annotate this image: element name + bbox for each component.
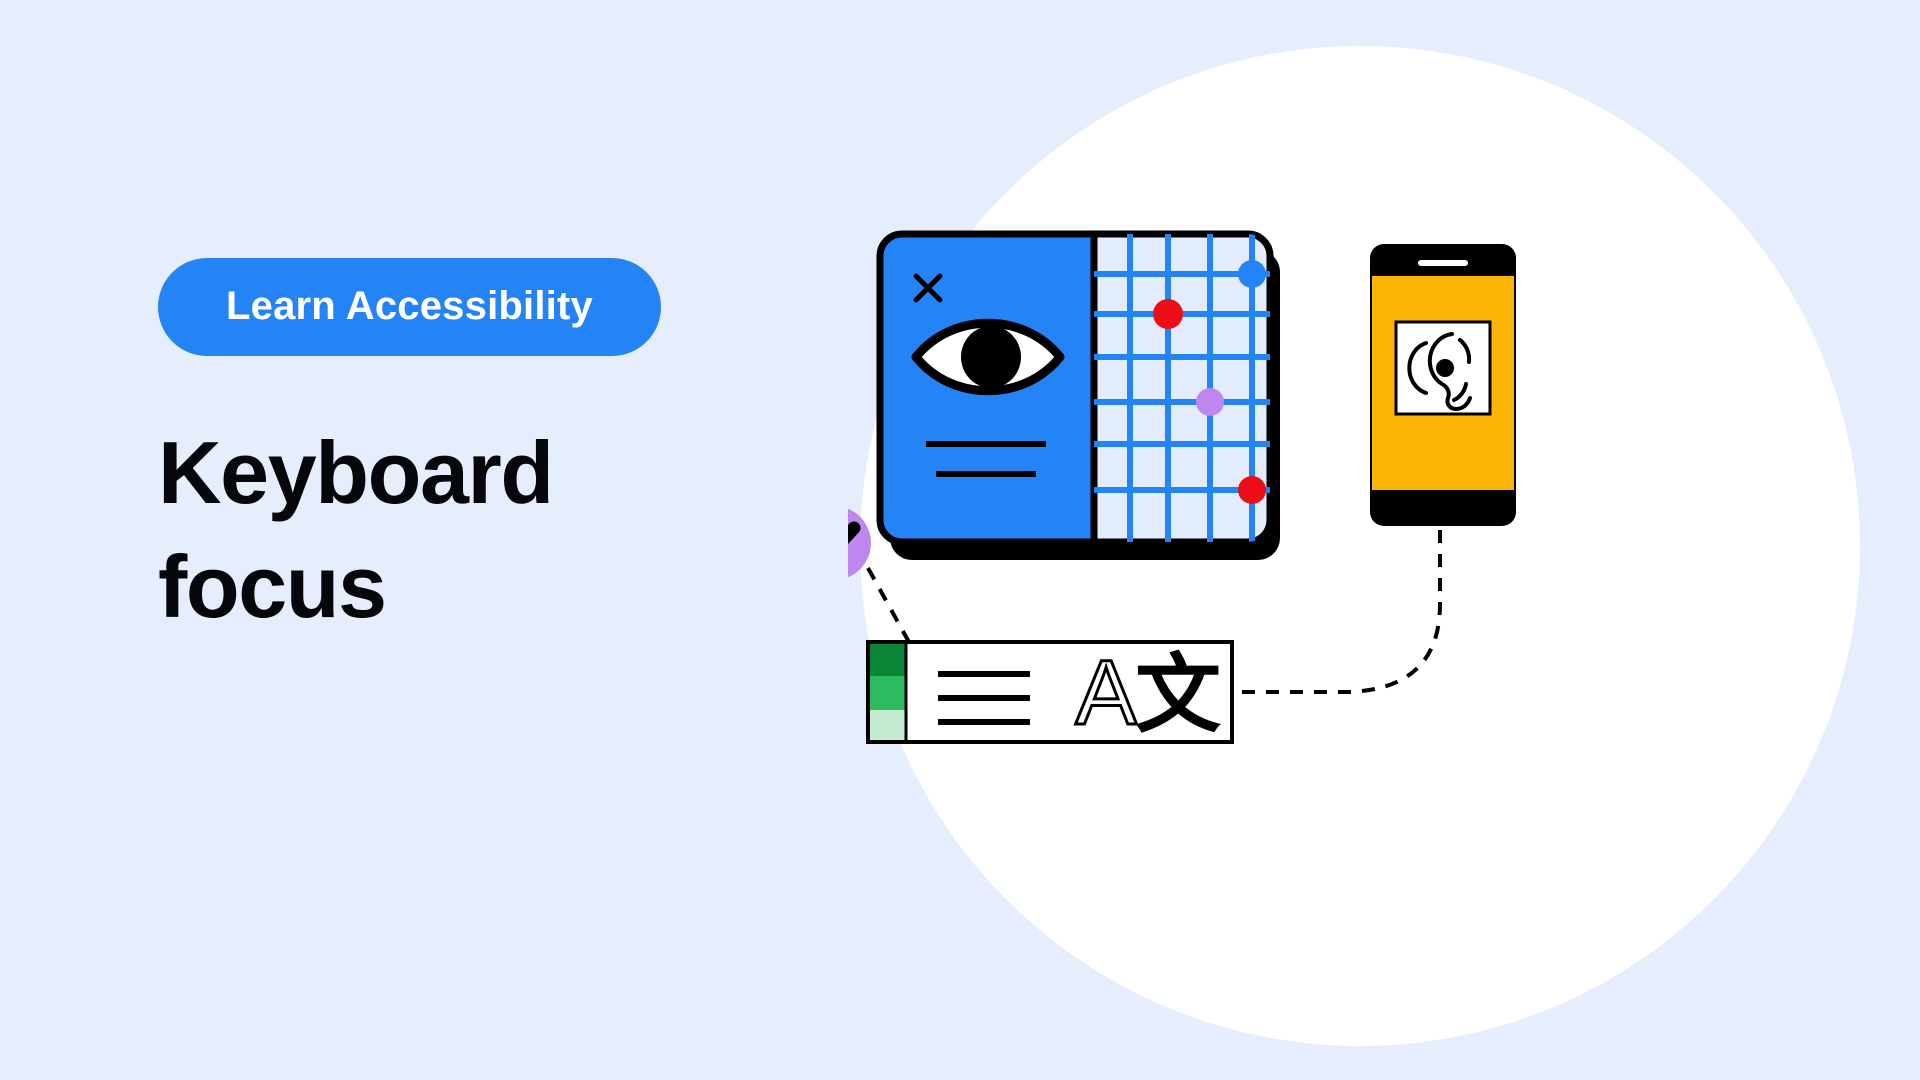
latin-letter-glyph: A <box>1075 642 1137 744</box>
learn-accessibility-badge[interactable]: Learn Accessibility <box>158 258 661 356</box>
illustration-container: A 文 <box>848 12 1908 1072</box>
grid-dot-blue <box>1238 260 1266 288</box>
grid-panel <box>1090 230 1274 546</box>
grid-dot-red <box>1153 299 1183 329</box>
eye-icon <box>916 323 1060 391</box>
swatch-mid-green <box>870 676 906 710</box>
illustration-svg: A 文 <box>848 12 1908 1072</box>
accessibility-card[interactable] <box>880 230 1280 560</box>
swatch-dark-green <box>870 644 906 676</box>
grid-dot-red-2 <box>1238 476 1266 504</box>
hero-text-column: Learn Accessibility Keyboard focus <box>158 258 798 645</box>
cjk-letter-glyph: 文 <box>1135 645 1221 745</box>
page-title: Keyboard focus <box>158 416 678 645</box>
grid-dot-purple <box>1196 388 1224 416</box>
swatch-light-green <box>870 710 906 740</box>
mobile-phone[interactable] <box>1370 244 1516 526</box>
language-bar[interactable]: A 文 <box>868 642 1232 745</box>
connector-check-to-bar <box>868 568 910 644</box>
phone-speaker <box>1418 260 1468 266</box>
